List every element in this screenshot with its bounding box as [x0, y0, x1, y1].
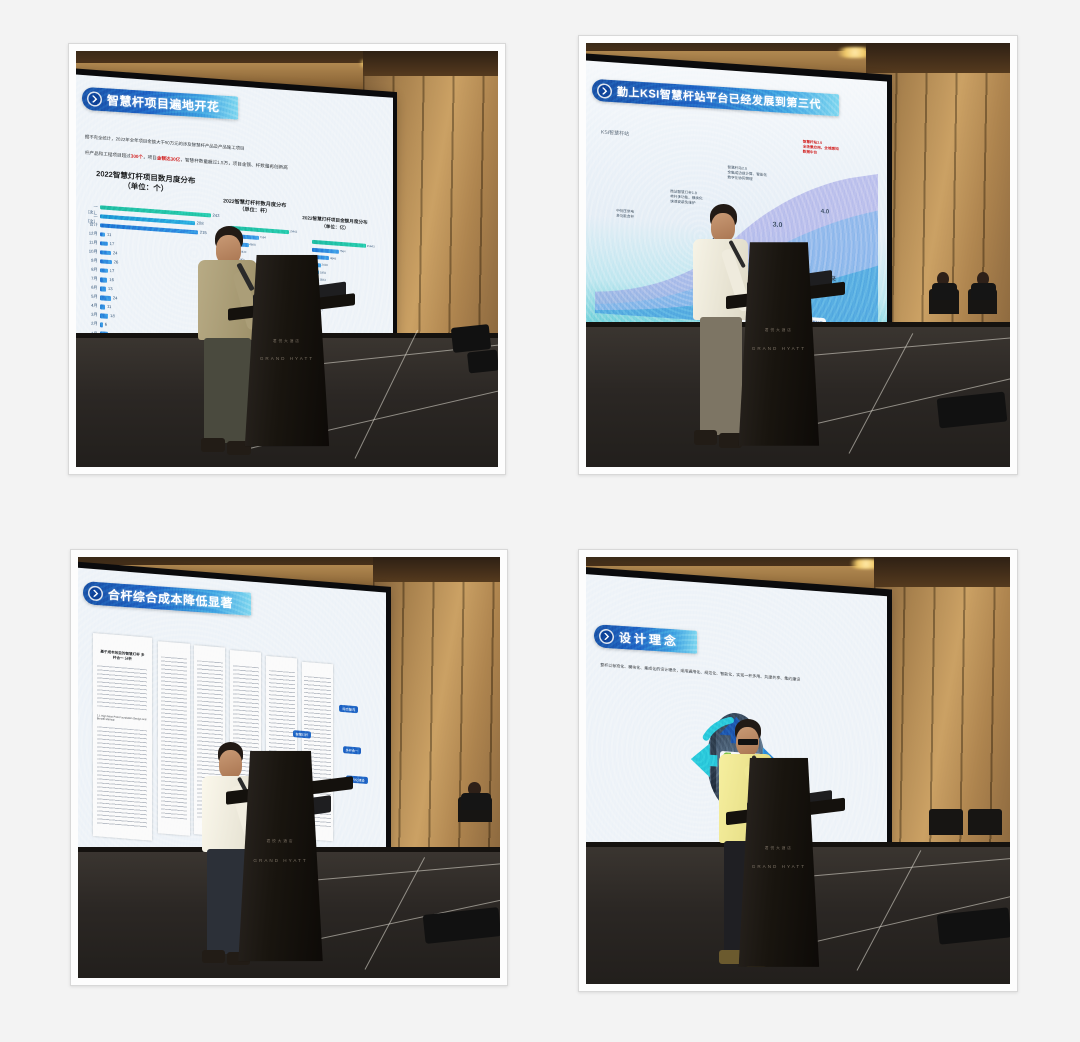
- subtitle-red-1: 300个: [131, 154, 143, 160]
- mini-chart-bar: [312, 248, 338, 254]
- mini-chart-value-label: 1950: [320, 271, 326, 275]
- chart-label: KSI智慧杆站: [601, 128, 629, 137]
- chart-1-category-label: 7月: [83, 276, 97, 283]
- audience-body: [971, 283, 996, 300]
- chart-1-bar: [100, 287, 106, 292]
- presenter-shoe: [202, 950, 225, 963]
- lectern: 君悦大酒店 GRAND HYATT: [238, 751, 322, 962]
- lectern-brand-cn: 君悦大酒店: [245, 339, 329, 344]
- photo-frame-bottom-left[interactable]: 合杆综合成本降低显著 基于成本效益的智慧灯杆 多杆合一 分析 1.1 High …: [70, 549, 508, 986]
- lectern: 君悦大酒店 GRAND HYATT: [739, 242, 820, 446]
- wall-top-strip: [363, 51, 498, 76]
- document-text-lines: [161, 657, 187, 820]
- lectern-brand-cn: 君悦大酒店: [238, 839, 322, 844]
- presenter-legs: [700, 317, 743, 435]
- photo-frame-bottom-right[interactable]: 设计理念 整杆以标准化、模块化、集成化的设计理念，采用通用化、规范化、智能化，实…: [578, 549, 1018, 992]
- chart-1-value-label: 243: [212, 213, 219, 219]
- photo-frame-top-left[interactable]: 智慧杆项目遍地开花 据不完全统计，2022年全年项目金额大于50万元的涉及智慧杆…: [68, 43, 506, 475]
- callout-1: 综合管沟: [339, 705, 358, 714]
- stage-monitor-speaker: [450, 324, 490, 353]
- lectern-brand-cn: 君悦大酒店: [739, 846, 820, 851]
- chevron-right-icon: [86, 92, 101, 108]
- chevron-right-icon: [88, 585, 103, 601]
- chart-2-title: 2022智慧灯杆杆数月度分布 （单位：杆）: [216, 198, 293, 218]
- lectern-brand: GRAND HYATT: [739, 864, 820, 869]
- chart-1-category-label: 3月: [83, 312, 97, 319]
- presenter-glasses: [738, 739, 758, 745]
- chart-1-bar: [100, 278, 107, 283]
- chart-1-bar: [100, 251, 111, 256]
- chart-1-category-label: 11月: [83, 239, 97, 246]
- photo-top-right: 勤上KSI智慧杆站平台已经发展到第三代 KSI智慧杆站 中低压供电多功能合杆 微…: [586, 43, 1010, 467]
- lectern: 君悦大酒店 GRAND HYATT: [739, 758, 820, 967]
- chart-1-value-label: 17: [109, 269, 114, 274]
- chevron-right-icon: [597, 82, 612, 98]
- presenter-shoe: [201, 438, 225, 452]
- chart-1-value-label: 24: [113, 251, 118, 256]
- mini-chart-value-label: 4848: [330, 256, 336, 260]
- chart-1-value-label: 26: [113, 260, 118, 265]
- document-text-lines: [97, 666, 147, 711]
- document-page: [158, 641, 189, 835]
- mini-chart-value-label: 15443: [367, 244, 375, 249]
- chart-1-category-label: 5月: [83, 294, 97, 301]
- presenter-shoe: [719, 950, 742, 965]
- chevron-right-icon: [599, 629, 614, 645]
- callout-3: 多杆合一: [342, 746, 361, 755]
- chart-1-value-label: 17: [109, 241, 114, 246]
- chart-1-bar: [100, 323, 103, 328]
- conference-room-scene: 智慧杆项目遍地开花 据不完全统计，2022年全年项目金额大于50万元的涉及智慧杆…: [76, 51, 498, 467]
- audience-body: [932, 283, 957, 300]
- chart-1-bar: [100, 260, 112, 265]
- document-page: 基于成本效益的智慧灯杆 多杆合一 分析 1.1 High Mast Pole F…: [93, 633, 152, 841]
- slide-subtitle-line2: 杆产品和工程项目超过300个，项目金额达30亿，智慧杆数量超过1.5万，项目金额…: [85, 150, 288, 171]
- chart-1-bar: [100, 233, 105, 238]
- wall-top-strip: [866, 43, 1010, 73]
- slide-subtitle-line1: 据不完全统计，2022年全年项目金额大于50万元的涉及智慧杆产品及产品施工项目: [85, 135, 245, 153]
- chart-1-category-label: 4月: [83, 303, 97, 310]
- chart-1-title: 2022智慧灯杆项目数月度分布 （单位：个）: [88, 169, 203, 198]
- chart-1-value-label: 18: [110, 314, 115, 319]
- conference-room-scene: 勤上KSI智慧杆站平台已经发展到第三代 KSI智慧杆站 中低压供电多功能合杆 微…: [586, 43, 1010, 467]
- mini-chart-value-label: 15443: [289, 230, 297, 235]
- lectern-brand-cn: 君悦大酒店: [739, 328, 820, 333]
- chart-1-category-label: 合计: [83, 221, 97, 228]
- generation-note-4: 智慧杆站3.0全场景应用、全域感知数据中台: [803, 140, 839, 158]
- generation-marker-4: 4.0: [821, 208, 829, 215]
- slide-title-pill: 合杆综合成本降低显著: [83, 581, 251, 616]
- wall-top-strip: [874, 557, 1010, 587]
- conference-room-scene: 合杆综合成本降低显著 基于成本效益的智慧灯杆 多杆合一 分析 1.1 High …: [78, 557, 500, 978]
- chart-1-category-label: 6月: [83, 285, 97, 292]
- chart-1-bar: [100, 224, 198, 236]
- conference-room-scene: 设计理念 整杆以标准化、模块化、集成化的设计理念，采用通用化、规范化、智能化，实…: [586, 557, 1010, 984]
- slide-title-text: 合杆综合成本降低显著: [108, 586, 233, 612]
- chart-1-value-label: 6: [105, 322, 107, 327]
- presenter-head: [219, 750, 242, 779]
- generation-note-3: 智慧杆站2.0全集成边缘计算、智能化数字化协同管理: [727, 165, 767, 183]
- audience-seat: [929, 809, 963, 835]
- generation-note-1: 中低压供电多功能合杆: [616, 208, 634, 219]
- mini-chart-value-label: 7564: [339, 250, 345, 254]
- mini-chart-bar: [312, 240, 366, 248]
- audience-body: [461, 793, 491, 810]
- subtitle-prefix: 杆产品和工程项目超过: [85, 150, 131, 158]
- slide-title-text: 智慧杆项目遍地开花: [106, 92, 219, 116]
- subtitle-suffix: ，智慧杆数量超过1.5万，项目金额、杆数量再创新高: [180, 157, 287, 170]
- audience-seat: [968, 809, 1002, 835]
- chart-1-category-label: 8月: [83, 267, 97, 274]
- lectern-brand: GRAND HYATT: [238, 858, 322, 863]
- presenter-shoe: [694, 430, 717, 445]
- mini-chart-value-label: 1843: [319, 278, 325, 282]
- chart-1-category-label: 12月: [83, 230, 97, 237]
- stage-monitor-speaker: [467, 349, 498, 373]
- slide-title-pill: 智慧杆项目遍地开花: [81, 87, 237, 120]
- chart-1-category-label: 9月: [83, 258, 97, 265]
- presenter-legs: [204, 338, 250, 443]
- subtitle-red-2: 金额达30亿: [157, 156, 181, 163]
- chart-1-value-label: 11: [107, 232, 111, 237]
- chart-1-bar: [100, 314, 108, 319]
- generation-marker-3: 3.0: [773, 221, 783, 229]
- wall-top-strip: [373, 557, 500, 582]
- document-text-lines: [97, 727, 147, 829]
- chart-1-value-label: 24: [113, 296, 118, 301]
- slide-title-text: 勤上KSI智慧杆站平台已经发展到第三代: [617, 83, 821, 112]
- slide-title-text: 设计理念: [619, 629, 679, 650]
- document-title: 基于成本效益的智慧灯杆 多杆合一 分析: [98, 650, 145, 664]
- presenter-head: [711, 213, 735, 243]
- chart-3-title: 2022智慧灯杆项目金额月度分布 （单位：亿）: [299, 216, 370, 234]
- chart-1-value-label: 11: [107, 305, 111, 310]
- chart-1-category-label: 2月: [83, 321, 97, 328]
- subtitle-mid: ，项目: [143, 155, 157, 161]
- chart-1-value-label: 16: [109, 278, 114, 283]
- lectern-brand: GRAND HYATT: [245, 356, 329, 361]
- chart-1-bar: [100, 305, 105, 310]
- chart-1-value-label: 13: [108, 287, 113, 292]
- photo-bottom-right: 设计理念 整杆以标准化、模块化、集成化的设计理念，采用通用化、规范化、智能化，实…: [586, 557, 1010, 984]
- slide-title-pill: 设计理念: [594, 624, 697, 654]
- mini-chart-value-label: 2430: [321, 263, 327, 267]
- chart-1-bar: [100, 296, 111, 301]
- lectern: 君悦大酒店 GRAND HYATT: [245, 255, 329, 446]
- lectern-brand: GRAND HYATT: [739, 346, 820, 351]
- photo-top-left: 智慧杆项目遍地开花 据不完全统计，2022年全年项目金额大于50万元的涉及智慧杆…: [76, 51, 498, 467]
- chart-1-bar: [100, 242, 108, 247]
- slide-title-pill: 勤上KSI智慧杆站平台已经发展到第三代: [592, 78, 839, 116]
- photo-bottom-left: 合杆综合成本降低显著 基于成本效益的智慧灯杆 多杆合一 分析 1.1 High …: [78, 557, 500, 978]
- chart-1-category-label: 10月: [83, 249, 97, 256]
- photo-gallery: 智慧杆项目遍地开花 据不完全统计，2022年全年项目金额大于50万元的涉及智慧杆…: [0, 0, 1080, 1042]
- document-section-heading: 1.1 High Mast Pole Foundation Design and…: [97, 715, 148, 725]
- chart-1-bar: [100, 269, 108, 274]
- photo-frame-top-right[interactable]: 勤上KSI智慧杆站平台已经发展到第三代 KSI智慧杆站 中低压供电多功能合杆 微…: [578, 35, 1018, 475]
